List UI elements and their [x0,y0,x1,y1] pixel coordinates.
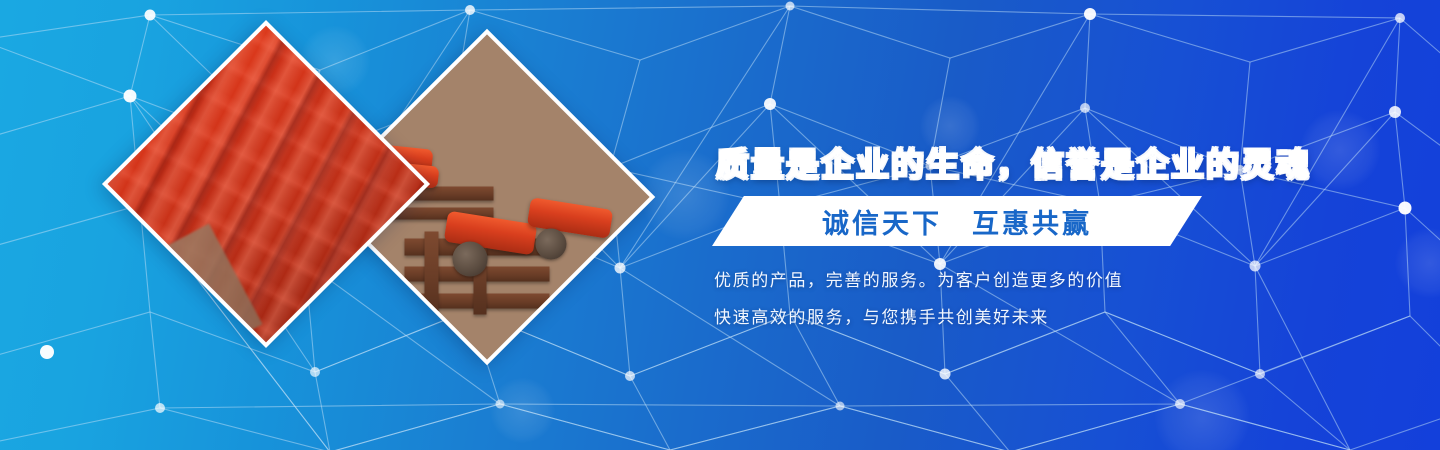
banner-subline-2: 快速高效的服务，与您携手共创美好未来 [714,303,1049,328]
pallet-board [425,232,439,315]
product-photo-diamond-left[interactable] [102,20,430,348]
red-universal-joint-shafts-photo [108,26,425,343]
promo-banner: 质量是企业的生命，信誉是企业的灵魂 诚信天下 互惠共赢 优质的产品，完善的服务。… [0,0,1440,450]
slogan-ribbon-text: 诚信天下 互惠共赢 [712,196,1202,246]
banner-subline-1: 优质的产品，完善的服务。为客户创造更多的价值 [714,266,1123,291]
banner-headline: 质量是企业的生命，信誉是企业的灵魂 [716,138,1311,186]
glow-bokeh [490,378,555,443]
slogan-column: 质量是企业的生命，信誉是企业的灵魂 诚信天下 互惠共赢 优质的产品，完善的服务。… [690,0,1440,450]
shaft-flange [535,228,566,259]
diamond-left-clip [108,26,425,343]
shaft-flange [453,242,488,277]
